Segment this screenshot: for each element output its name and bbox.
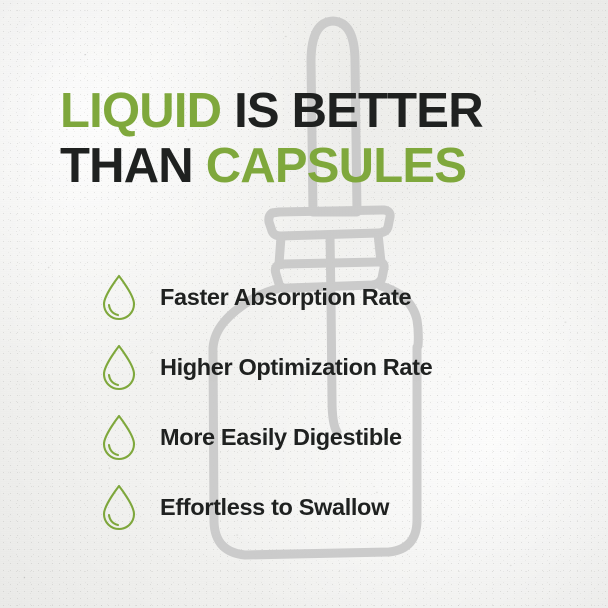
benefit-label: More Easily Digestible	[160, 423, 402, 451]
list-item: Higher Optimization Rate	[99, 332, 569, 402]
page-title: LIQUID IS BETTER THAN CAPSULES	[60, 84, 570, 194]
bottle-neck-left	[279, 237, 281, 264]
water-drop-icon	[99, 413, 139, 461]
headline-line-1: LIQUID IS BETTER	[60, 84, 570, 139]
benefit-label: Faster Absorption Rate	[160, 283, 411, 311]
headline-word-liquid: LIQUID	[60, 84, 221, 138]
list-item: More Easily Digestible	[99, 402, 569, 472]
water-drop-icon	[99, 273, 139, 321]
headline-line-2: THAN CAPSULES	[60, 139, 570, 194]
headline-word-than: THAN	[60, 139, 206, 193]
headline-phrase-is-better: IS BETTER	[221, 84, 483, 138]
headline-word-capsules: CAPSULES	[206, 139, 466, 193]
benefit-label: Effortless to Swallow	[160, 493, 389, 521]
benefit-list: Faster Absorption Rate Higher Optimizati…	[99, 262, 569, 542]
benefit-label: Higher Optimization Rate	[160, 353, 432, 381]
list-item: Effortless to Swallow	[99, 472, 569, 542]
list-item: Faster Absorption Rate	[99, 262, 569, 332]
water-drop-icon	[99, 343, 139, 391]
poster-canvas: LIQUID IS BETTER THAN CAPSULES Faster Ab…	[0, 0, 608, 608]
water-drop-icon	[99, 483, 139, 531]
